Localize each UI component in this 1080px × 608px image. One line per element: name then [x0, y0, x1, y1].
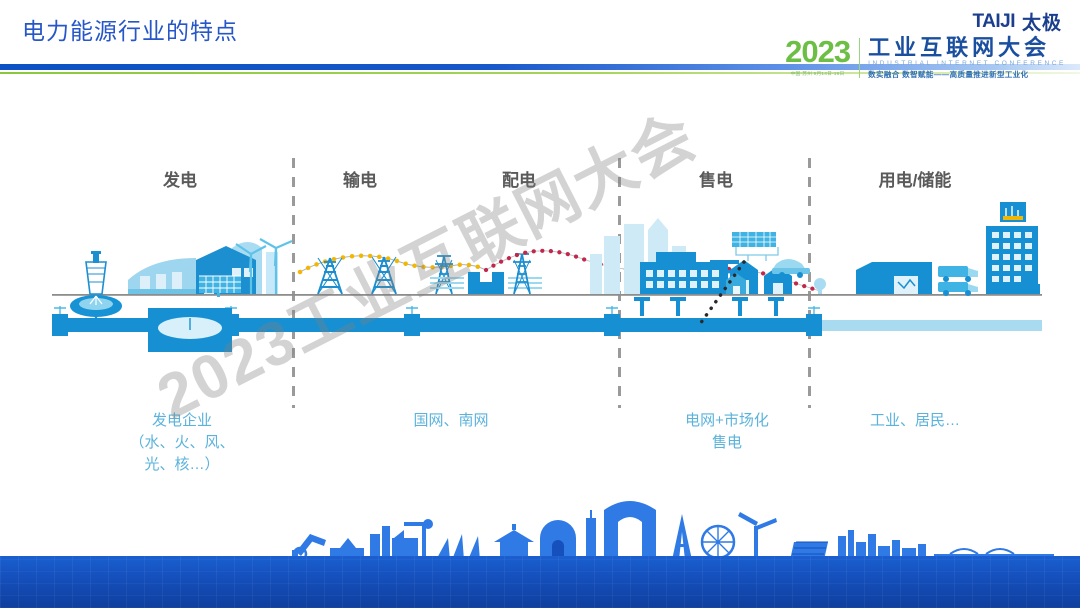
conference-title-block: 工业互联网大会 INDUSTRIAL INTERNET CONFERENCE 数… [868, 36, 1066, 80]
truck-icon [938, 266, 978, 296]
conference-logo-divider [859, 38, 860, 78]
transmission-tower-icon [318, 258, 342, 294]
conference-slogan: 数实融合 数智赋能——高质量推进新型工业化 [868, 69, 1066, 80]
service-drop-icon [634, 297, 784, 316]
busbar-tail [812, 320, 1042, 331]
stage-sublabel-line: （水、火、风、 [129, 432, 234, 454]
conference-year: 2023 [785, 36, 850, 67]
stage-sublabel-line: 国网、南网 [413, 410, 488, 432]
stage-sublabel-5: 工业、居民… [870, 410, 960, 432]
diagram-svg [0, 196, 1080, 366]
stage-sublabel-4: 电网+市场化售电 [685, 410, 769, 454]
stage-label-2: 输电 [343, 166, 377, 191]
conference-year-block: 2023 中国·苏州 9月14日-16日 [785, 36, 859, 77]
water-basin-icon [70, 295, 142, 322]
busbar-main [52, 318, 812, 332]
hydro-dam-icon [128, 258, 196, 294]
conference-title-cn: 工业互联网大会 [868, 36, 1066, 59]
stage-sublabel-line: 发电企业 [129, 410, 234, 432]
conference-title-en: INDUSTRIAL INTERNET CONFERENCE [868, 60, 1066, 67]
conference-place-date: 中国·苏州 9月14日-16日 [787, 70, 849, 77]
stage-label-1: 发电 [163, 166, 197, 191]
stage-sublabel-1: 发电企业（水、火、风、光、核…） [129, 410, 234, 475]
warehouse-icon [856, 262, 932, 294]
stage-sublabel-3: 国网、南网 [413, 410, 488, 432]
ground-line [52, 294, 1042, 296]
stage-label-3: 配电 [502, 166, 536, 191]
charging-station-icon [814, 278, 826, 294]
solar-panel-icon [732, 232, 778, 261]
footer-band [0, 556, 1080, 608]
junction-antenna-icon [54, 306, 820, 314]
taiji-logo-cn: 太极 [1022, 8, 1062, 35]
energy-chain-diagram: 2023工业互联网大会 [0, 196, 1080, 366]
page-title: 电力能源行业的特点 [22, 12, 238, 46]
slide-root: 电力能源行业的特点 TAIJI 太极 2023 中国·苏州 9月14日-16日 … [0, 0, 1080, 608]
conference-logo: 2023 中国·苏州 9月14日-16日 工业互联网大会 INDUSTRIAL … [785, 36, 1066, 80]
taiji-logo-en: TAIJI [972, 11, 1015, 33]
transmission-tower-icon [372, 257, 396, 294]
stage-sublabel-line: 售电 [685, 432, 769, 454]
stage-label-4: 售电 [699, 166, 733, 191]
footer-skyline [0, 492, 1080, 562]
oil-derrick-icon [86, 251, 106, 294]
taiji-logo: TAIJI 太极 [972, 8, 1062, 35]
stage-sublabel-line: 光、核…） [129, 454, 234, 476]
stage-sublabel-line: 工业、居民… [870, 410, 960, 432]
stage-label-5: 用电/储能 [879, 166, 952, 191]
stage-sublabel-line: 电网+市场化 [685, 410, 769, 432]
office-tower-icon [986, 202, 1040, 294]
